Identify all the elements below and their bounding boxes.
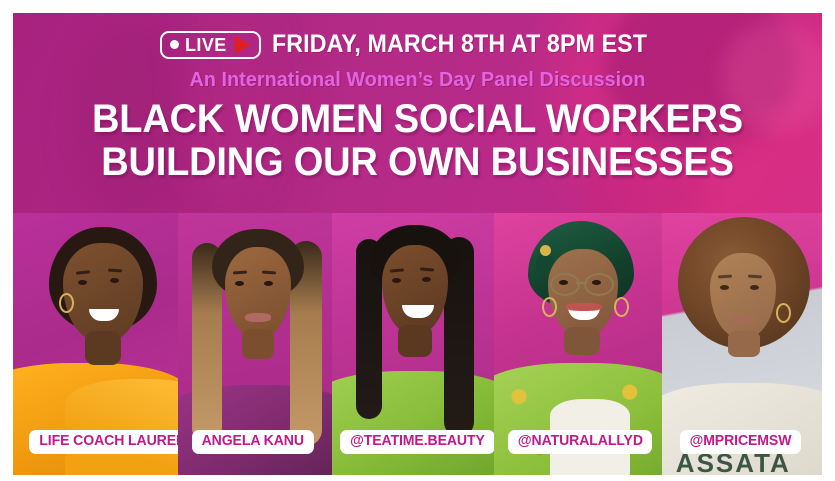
panelist-card[interactable]: ASSATA @MPRICEMSW [662,213,822,475]
panelist-name-pill: ANGELA KANU [192,430,314,454]
headline-line-1: BLACK WOMEN SOCIAL WORKERS [92,97,743,141]
lips [245,313,271,322]
gold-brooch-icon [540,245,551,256]
panelist-name-pill: @MPRICEMSW [680,430,801,454]
eye-right [422,277,431,282]
eye-right [264,281,273,286]
neck [398,325,432,357]
headline-line-2: BUILDING OUR OWN BUSINESSES [33,141,802,184]
eye-left [559,280,568,285]
glasses-bridge [576,282,587,284]
play-triangle-icon [235,36,250,54]
panelist-name-pill: @TEATIME.BEAUTY [340,430,494,454]
neck [564,327,600,355]
earring [59,293,74,313]
earring-right [614,297,629,317]
panelist-name: @TEATIME.BEAUTY [350,433,485,450]
event-promo-poster: LIVE FRIDAY, MARCH 8TH AT 8PM EST An Int… [0,0,835,481]
panelist-name-pill: LIFE COACH LAUREN [29,430,178,454]
outfit-sleeve [65,379,178,475]
eye-left [392,278,401,283]
live-badge: LIVE [160,31,261,59]
event-subtitle: An International Women’s Day Panel Discu… [29,68,806,92]
live-dot-icon [170,40,179,49]
eye-right [110,278,119,283]
panelist-photo-row: LIFE COACH LAUREN [13,213,822,475]
panelist-name: ANGELA KANU [202,433,304,450]
eye-left [78,280,87,285]
neck [242,329,274,359]
lips [730,315,754,323]
event-datetime: FRIDAY, MARCH 8TH AT 8PM EST [272,30,647,59]
eye-right [592,280,601,285]
earring-left [542,297,557,317]
live-label: LIVE [185,36,227,54]
eye-left [235,281,244,286]
panelist-card[interactable]: @TEATIME.BEAUTY [332,213,494,475]
neck [85,331,121,365]
neck [728,331,760,357]
panelist-name: @MPRICEMSW [689,433,791,450]
eye-left [720,285,729,290]
eye-right [750,285,759,290]
panelist-card[interactable]: @NATURALALLYD [494,213,662,475]
panelist-name: LIFE COACH LAUREN [39,433,178,450]
earring [776,303,791,323]
poster-header: LIVE FRIDAY, MARCH 8TH AT 8PM EST An Int… [13,13,822,223]
panelist-name: @NATURALALLYD [517,433,642,450]
panelist-card[interactable]: ANGELA KANU [178,213,332,475]
live-datetime-row: LIVE FRIDAY, MARCH 8TH AT 8PM EST [13,30,822,59]
panelist-card[interactable]: LIFE COACH LAUREN [13,213,178,475]
panelist-name-pill: @NATURALALLYD [508,430,653,454]
upper-lip [566,303,602,311]
event-headline: BLACK WOMEN SOCIAL WORKERS BUILDING OUR … [33,98,802,184]
poster-canvas: LIVE FRIDAY, MARCH 8TH AT 8PM EST An Int… [13,13,822,475]
